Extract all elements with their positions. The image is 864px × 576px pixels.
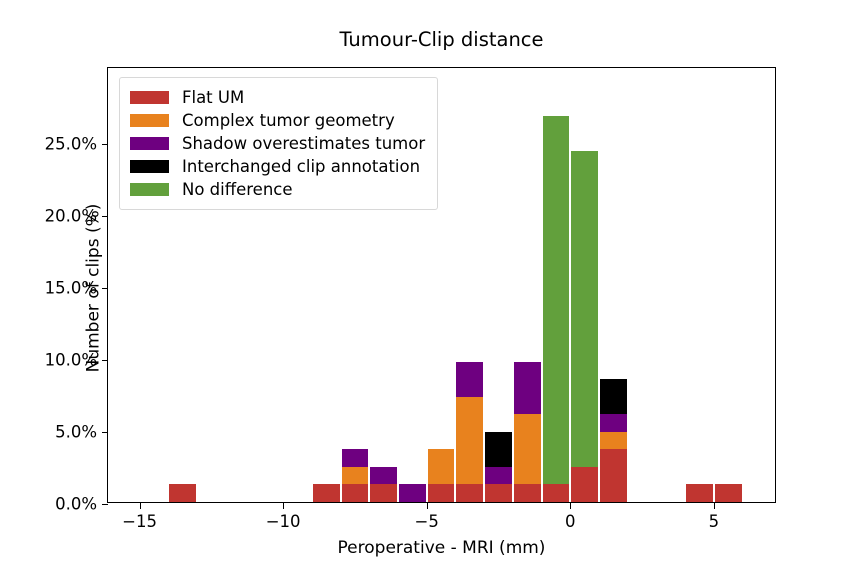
bar-segment: [599, 449, 628, 502]
y-tick-mark: [102, 288, 109, 289]
legend-swatch: [130, 183, 169, 196]
bar-segment: [341, 467, 370, 485]
y-tick-label: 20.0%: [45, 207, 97, 226]
bar-segment: [398, 484, 427, 502]
legend-swatch: [130, 91, 169, 104]
x-tick-label: 0: [565, 512, 576, 531]
y-tick-label: 0.0%: [55, 495, 97, 514]
legend-label: Shadow overestimates tumor: [182, 134, 425, 153]
bar-segment: [599, 379, 628, 414]
legend-item: No difference: [130, 178, 425, 201]
x-tick-mark: [570, 502, 571, 509]
legend-label: Flat UM: [182, 88, 244, 107]
bar-segment: [455, 397, 484, 485]
bar-stack: [513, 68, 542, 502]
bar-segment: [455, 484, 484, 502]
legend-label: Interchanged clip annotation: [182, 157, 420, 176]
legend-item: Complex tumor geometry: [130, 109, 425, 132]
legend-swatch: [130, 114, 169, 127]
y-tick-label: 5.0%: [55, 423, 97, 442]
y-tick-mark: [102, 504, 109, 505]
y-tick-label: 25.0%: [45, 135, 97, 154]
bar-segment: [312, 484, 341, 502]
legend: Flat UMComplex tumor geometryShadow over…: [119, 77, 438, 210]
legend-item: Shadow overestimates tumor: [130, 132, 425, 155]
bar-segment: [341, 449, 370, 467]
y-tick-label: 10.0%: [45, 351, 97, 370]
y-tick-mark: [102, 360, 109, 361]
bar-stack: [714, 68, 743, 502]
bar-segment: [599, 432, 628, 450]
legend-swatch: [130, 137, 169, 150]
bar-segment: [542, 484, 571, 502]
bar-segment: [599, 414, 628, 432]
x-tick-label: −10: [266, 512, 301, 531]
bar-segment: [427, 484, 456, 502]
figure: Tumour-Clip distance Number of clips (%)…: [0, 0, 864, 576]
bar-segment: [455, 362, 484, 397]
bar-segment: [484, 467, 513, 485]
bar-segment: [427, 449, 456, 484]
bar-segment: [341, 484, 370, 502]
x-tick-label: −5: [415, 512, 439, 531]
bar-segment: [714, 484, 743, 502]
x-axis-label: Peroperative - MRI (mm): [107, 538, 776, 558]
bar-segment: [570, 151, 599, 467]
bar-segment: [484, 432, 513, 467]
bar-segment: [168, 484, 197, 502]
chart-title: Tumour-Clip distance: [107, 28, 776, 51]
legend-item: Flat UM: [130, 86, 425, 109]
legend-label: Complex tumor geometry: [182, 111, 395, 130]
x-tick-mark: [283, 502, 284, 509]
bar-segment: [570, 467, 599, 502]
x-tick-mark: [427, 502, 428, 509]
x-tick-mark: [714, 502, 715, 509]
bar-segment: [513, 414, 542, 484]
bar-segment: [484, 484, 513, 502]
bar-stack: [599, 68, 628, 502]
bar-segment: [369, 467, 398, 485]
bar-stack: [685, 68, 714, 502]
legend-swatch: [130, 160, 169, 173]
y-tick-mark: [102, 216, 109, 217]
x-tick-mark: [140, 502, 141, 509]
x-tick-label: −15: [122, 512, 157, 531]
legend-item: Interchanged clip annotation: [130, 155, 425, 178]
y-tick-mark: [102, 432, 109, 433]
bar-segment: [542, 116, 571, 485]
legend-label: No difference: [182, 180, 293, 199]
bar-stack: [542, 68, 571, 502]
y-tick-label: 15.0%: [45, 279, 97, 298]
bar-segment: [513, 484, 542, 502]
bar-segment: [513, 362, 542, 415]
bar-stack: [455, 68, 484, 502]
bar-segment: [369, 484, 398, 502]
bar-segment: [685, 484, 714, 502]
y-tick-mark: [102, 144, 109, 145]
bar-stack: [484, 68, 513, 502]
x-tick-label: 5: [709, 512, 720, 531]
bar-stack: [570, 68, 599, 502]
